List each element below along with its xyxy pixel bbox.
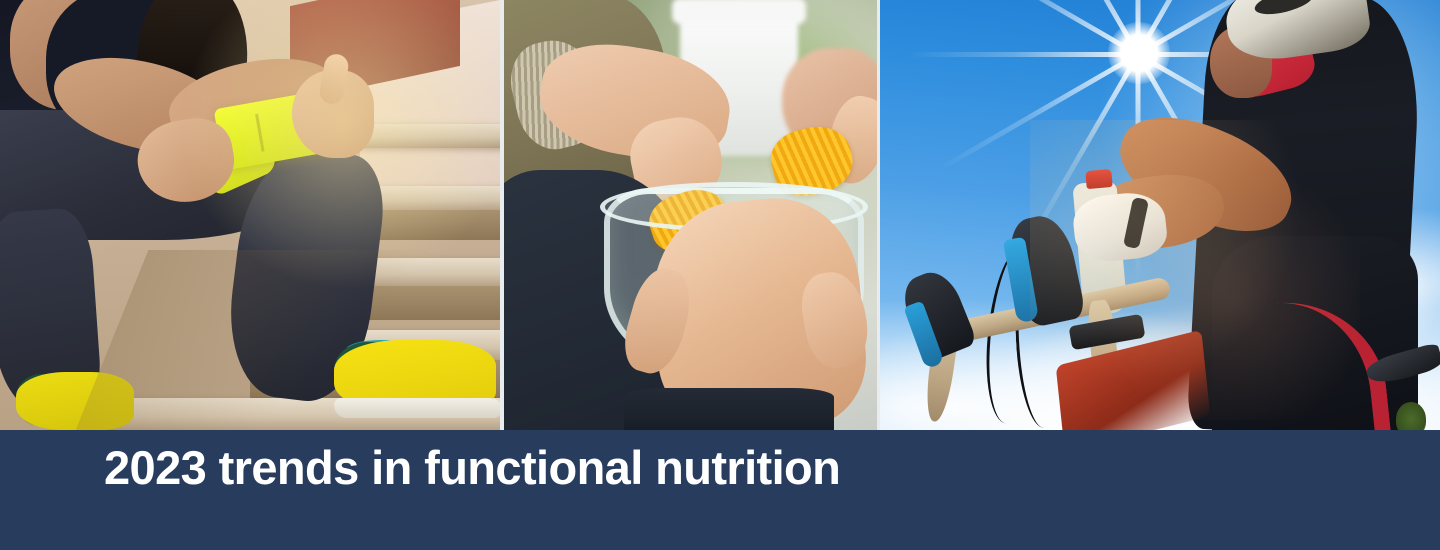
bottle-cap <box>1085 169 1112 189</box>
running-shoe-back <box>16 372 134 430</box>
panel-chips-bowl <box>504 0 877 430</box>
jacket-cuff <box>624 388 834 430</box>
tree-top <box>1396 402 1426 430</box>
panel-divider <box>500 0 504 430</box>
panel-divider <box>877 0 880 430</box>
panel-runner-stairs <box>0 0 500 430</box>
photo-strip <box>0 0 1440 430</box>
page-title: 2023 trends in functional nutrition <box>104 444 840 491</box>
nutrition-trends-banner: 2023 trends in functional nutrition <box>0 0 1440 550</box>
stair-step <box>360 124 500 148</box>
sun-core <box>1108 22 1170 84</box>
shoe-sole <box>334 398 500 418</box>
panel-cyclist-sun <box>880 0 1440 430</box>
cup-lid <box>672 0 806 24</box>
